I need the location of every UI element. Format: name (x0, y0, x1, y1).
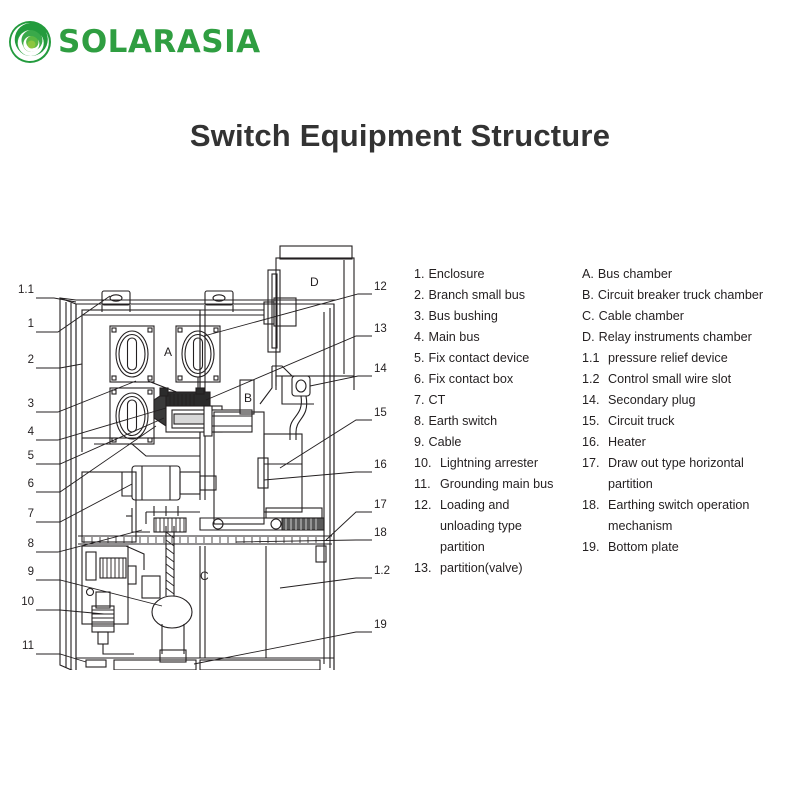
legend-letter-key: 14. (582, 390, 604, 411)
legend-number-key: 6. (414, 369, 425, 390)
brand-name: SOLARASIA (58, 24, 261, 60)
legend-letter-label: Draw out type horizontal (608, 453, 800, 474)
callout-5: 5 (28, 450, 34, 462)
legend-letter-item-12: mechanism (582, 516, 800, 537)
legend-letter-label: Relay instruments chamber (599, 327, 800, 348)
legend-number-key: 1. (414, 264, 425, 285)
legend-number-label: Fix contact box (429, 369, 582, 390)
legend-number-key: 11. (414, 474, 436, 495)
callout-11: 11 (22, 640, 34, 652)
legend-letter-item-7: 15.Circuit truck (582, 411, 800, 432)
legend-number-label: unloading type (440, 516, 582, 537)
legend-letter-key: 17. (582, 453, 604, 474)
legend-number-key: 13. (414, 558, 436, 579)
cable (152, 526, 192, 662)
legend-number-key: 2. (414, 285, 425, 306)
legend-letter-label: partition (608, 474, 800, 495)
legend-letter-key: 15. (582, 411, 604, 432)
earth-switch (126, 506, 200, 532)
legend-number-key: 7. (414, 390, 425, 411)
legend-column-numbers: 1.Enclosure2.Branch small bus3.Bus bushi… (414, 264, 582, 579)
bus-bushing-upper-left (110, 326, 154, 382)
callout-9: 9 (28, 566, 34, 578)
chamber-label-B: B (244, 391, 252, 405)
legend: 1.Enclosure2.Branch small bus3.Bus bushi… (414, 264, 800, 564)
legend-letter-key: 19. (582, 537, 604, 558)
legend-letter-label: Cable chamber (599, 306, 800, 327)
switchgear-cutaway-diagram: A B C D 1.1 1 2 3 4 5 6 7 8 9 10 11 12 1… (14, 240, 414, 670)
legend-number-label: Loading and (440, 495, 582, 516)
legend-number-item-13: partition (414, 537, 582, 558)
legend-number-key: 5. (414, 348, 425, 369)
legend-number-item-3: 4.Main bus (414, 327, 582, 348)
secondary-plug (260, 366, 310, 440)
page-title: Switch Equipment Structure (0, 118, 800, 154)
bus-bushing-upper-right (176, 326, 220, 382)
relay-chamber-D (264, 246, 354, 404)
legend-number-label: partition(valve) (440, 558, 582, 579)
callout-1.1: 1.1 (18, 284, 34, 296)
legend-number-label: Enclosure (429, 264, 582, 285)
legend-number-label: Fix contact device (429, 348, 582, 369)
callout-14: 14 (374, 363, 387, 375)
legend-number-key: 10. (414, 453, 436, 474)
legend-number-item-14: 13.partition(valve) (414, 558, 582, 579)
legend-number-key: 9. (414, 432, 425, 453)
legend-number-item-9: 10.Lightning arrester (414, 453, 582, 474)
legend-letter-key: A. (582, 264, 594, 285)
legend-number-label: Bus bushing (429, 306, 582, 327)
legend-letter-key: 18. (582, 495, 604, 516)
legend-letter-item-13: 19.Bottom plate (582, 537, 800, 558)
legend-letter-item-10: partition (582, 474, 800, 495)
legend-letter-label: Control small wire slot (608, 369, 800, 390)
callout-numbers-right: 12 13 14 15 16 17 18 1.2 19 (374, 281, 390, 631)
legend-letter-item-3: D.Relay instruments chamber (582, 327, 800, 348)
legend-number-key: 12. (414, 495, 436, 516)
chamber-label-A: A (164, 345, 172, 359)
legend-letter-label: Circuit breaker truck chamber (598, 285, 800, 306)
chamber-label-D: D (310, 275, 319, 289)
legend-number-key: 4. (414, 327, 425, 348)
legend-number-label: Lightning arrester (440, 453, 582, 474)
callout-numbers-left: 1.1 1 2 3 4 5 6 7 8 9 10 11 (18, 284, 35, 652)
callout-2: 2 (28, 354, 34, 366)
callout-4: 4 (28, 426, 35, 438)
legend-number-label: CT (429, 390, 582, 411)
leader-lines-left (36, 296, 166, 662)
legend-letter-label: Bottom plate (608, 537, 800, 558)
legend-letter-key: B. (582, 285, 594, 306)
legend-number-item-1: 2.Branch small bus (414, 285, 582, 306)
callout-13: 13 (374, 323, 387, 335)
legend-letter-item-0: A.Bus chamber (582, 264, 800, 285)
callout-7: 7 (28, 508, 34, 520)
legend-number-item-8: 9.Cable (414, 432, 582, 453)
legend-letter-label: Secondary plug (608, 390, 800, 411)
legend-number-label: Earth switch (429, 411, 582, 432)
legend-number-key: 8. (414, 411, 425, 432)
brand-logo: SOLARASIA (8, 18, 258, 66)
legend-letter-item-8: 16.Heater (582, 432, 800, 453)
solarasia-swirl-logo-icon (8, 20, 52, 64)
callout-16: 16 (374, 459, 387, 471)
callout-10: 10 (21, 596, 34, 608)
legend-number-item-11: 12.Loading and (414, 495, 582, 516)
leader-lines-right (194, 294, 372, 664)
legend-letter-label: Circuit truck (608, 411, 800, 432)
legend-letter-item-6: 14.Secondary plug (582, 390, 800, 411)
chamber-label-C: C (200, 569, 209, 583)
callout-6: 6 (28, 478, 34, 490)
diagram-svg: A B C D 1.1 1 2 3 4 5 6 7 8 9 10 11 12 1… (14, 240, 414, 670)
bottom-plate (76, 658, 334, 670)
callout-8: 8 (28, 538, 34, 550)
legend-number-item-7: 8.Earth switch (414, 411, 582, 432)
callout-12: 12 (374, 281, 387, 293)
legend-number-label: Branch small bus (429, 285, 582, 306)
legend-number-item-0: 1.Enclosure (414, 264, 582, 285)
legend-number-item-4: 5.Fix contact device (414, 348, 582, 369)
legend-letter-label: Heater (608, 432, 800, 453)
legend-number-item-2: 3.Bus bushing (414, 306, 582, 327)
legend-letter-label: Bus chamber (598, 264, 800, 285)
legend-letter-item-9: 17.Draw out type horizontal (582, 453, 800, 474)
legend-letter-item-2: C.Cable chamber (582, 306, 800, 327)
legend-letter-label: pressure relief device (608, 348, 800, 369)
callout-17: 17 (374, 499, 387, 511)
enclosure-left-panel (60, 298, 76, 670)
callout-18: 18 (374, 527, 387, 539)
legend-letter-key: C. (582, 306, 595, 327)
legend-letter-item-1: B.Circuit breaker truck chamber (582, 285, 800, 306)
legend-letter-label: Earthing switch operation (608, 495, 800, 516)
legend-number-item-12: unloading type (414, 516, 582, 537)
legend-column-letters: A.Bus chamberB.Circuit breaker truck cha… (582, 264, 800, 558)
callout-1.2: 1.2 (374, 565, 390, 577)
legend-letter-label: mechanism (608, 516, 800, 537)
legend-number-key: 3. (414, 306, 425, 327)
legend-letter-key: 16. (582, 432, 604, 453)
legend-number-label: Cable (429, 432, 582, 453)
callout-19: 19 (374, 619, 387, 631)
callout-15: 15 (374, 407, 387, 419)
legend-number-label: Grounding main bus (440, 474, 582, 495)
bus-bushing-lower-left (110, 388, 154, 444)
legend-number-label: Main bus (429, 327, 582, 348)
legend-number-item-10: 11.Grounding main bus (414, 474, 582, 495)
circuit-truck-B (200, 366, 324, 530)
legend-letter-item-5: 1.2Control small wire slot (582, 369, 800, 390)
legend-letter-key: 1.1 (582, 348, 604, 369)
legend-letter-item-4: 1.1pressure relief device (582, 348, 800, 369)
legend-letter-key: D. (582, 327, 595, 348)
legend-letter-item-11: 18.Earthing switch operation (582, 495, 800, 516)
callout-3: 3 (28, 398, 34, 410)
legend-number-item-6: 7.CT (414, 390, 582, 411)
legend-letter-key: 1.2 (582, 369, 604, 390)
legend-number-label: partition (440, 537, 582, 558)
callout-1: 1 (28, 318, 34, 330)
legend-number-item-5: 6.Fix contact box (414, 369, 582, 390)
